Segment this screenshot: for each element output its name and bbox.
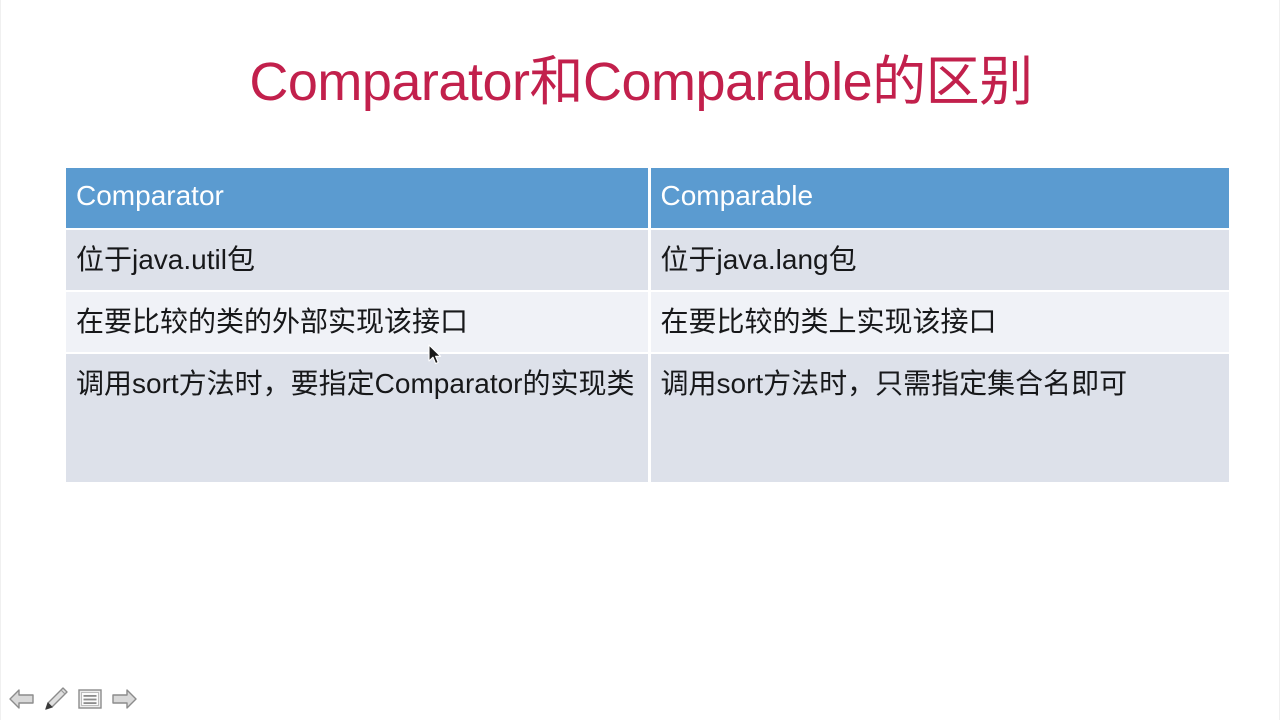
table-row: 位于java.util包 位于java.lang包 <box>66 229 1229 291</box>
cell-comparator-package: 位于java.util包 <box>66 229 649 291</box>
cell-comparable-sort-usage: 调用sort方法时，只需指定集合名即可 <box>649 353 1229 482</box>
table-row: 调用sort方法时，要指定Comparator的实现类 调用sort方法时，只需… <box>66 353 1229 482</box>
page-title: Comparator和Comparable的区别 <box>1 55 1280 109</box>
previous-arrow-icon[interactable] <box>7 684 37 714</box>
next-arrow-icon[interactable] <box>109 684 139 714</box>
menu-icon[interactable] <box>75 684 105 714</box>
table-row: 在要比较的类的外部实现该接口 在要比较的类上实现该接口 <box>66 291 1229 353</box>
cell-comparator-sort-usage: 调用sort方法时，要指定Comparator的实现类 <box>66 353 649 482</box>
column-header-comparable: Comparable <box>649 168 1229 229</box>
cell-comparable-implementation: 在要比较的类上实现该接口 <box>649 291 1229 353</box>
column-header-comparator: Comparator <box>66 168 649 229</box>
table-header-row: Comparator Comparable <box>66 168 1229 229</box>
table-header: Comparator Comparable <box>66 168 1229 229</box>
cell-comparable-package: 位于java.lang包 <box>649 229 1229 291</box>
pen-icon[interactable] <box>41 684 71 714</box>
slide-canvas: Comparator和Comparable的区别 Comparator Comp… <box>0 0 1280 720</box>
table-body: 位于java.util包 位于java.lang包 在要比较的类的外部实现该接口… <box>66 229 1229 482</box>
comparison-table: Comparator Comparable 位于java.util包 位于jav… <box>66 168 1229 482</box>
cell-comparator-implementation: 在要比较的类的外部实现该接口 <box>66 291 649 353</box>
bottom-toolbar <box>7 682 139 716</box>
